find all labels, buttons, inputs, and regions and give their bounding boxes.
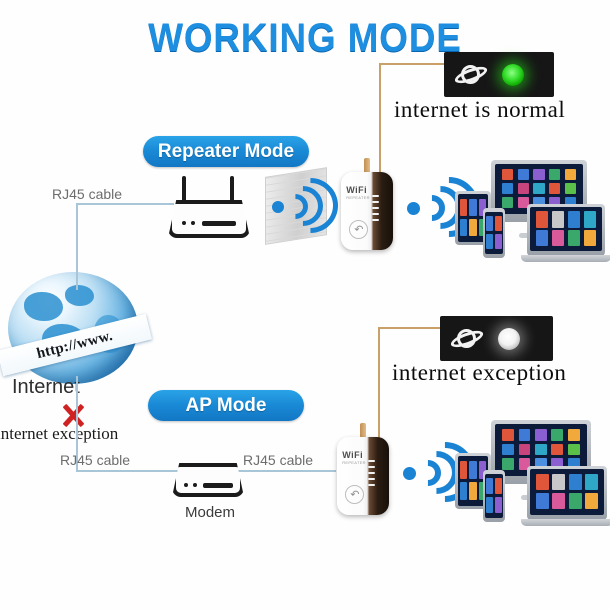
internet-globe-icon: http://www. (8, 272, 138, 384)
mode-label-ap[interactable]: AP Mode (148, 390, 304, 421)
status-wire-vertical-bottom (378, 327, 380, 445)
phone-screen (485, 212, 503, 254)
status-wire-horizontal-top (379, 63, 447, 65)
monitor-tiles (502, 169, 576, 208)
wifi-repeater-device-top[interactable]: WiFi REPEATER ↶ (341, 172, 393, 250)
multi-device-cluster-bottom (455, 420, 605, 530)
status-wire-vertical-top (379, 63, 381, 181)
wifi-repeater-device-bottom[interactable]: WiFi REPEATER ↶ (337, 437, 389, 515)
laptop-screen (530, 207, 602, 251)
lan-trunk-upper (76, 262, 78, 290)
repeater-brand-sublabel: REPEATER (342, 460, 366, 465)
internet-exception-label: internet exception (0, 424, 118, 444)
status-badge-internet-exception (440, 316, 553, 361)
repeater-brand-label: WiFi (346, 185, 367, 195)
cable-label-ap-right: RJ45 cable (243, 452, 313, 468)
repeater-brand-sublabel: REPEATER (346, 195, 370, 200)
router-icon (168, 176, 250, 238)
led-green-indicator (502, 64, 524, 86)
led-white-indicator (498, 328, 520, 350)
wifi-signal-through-wall (272, 182, 326, 232)
laptop-screen (530, 469, 604, 515)
status-caption-normal: internet is normal (394, 97, 565, 123)
planet-icon (454, 58, 488, 92)
multi-device-cluster-top (455, 160, 605, 265)
working-mode-diagram: WORKING MODE internet is normal Repeater… (0, 0, 610, 610)
repeater-led-strip (368, 460, 375, 486)
phone-screen (485, 474, 503, 518)
status-wire-horizontal-bottom (378, 327, 444, 329)
status-caption-exception: internet exception (392, 360, 566, 386)
lan-line-globe-to-router-horizontal (76, 203, 174, 205)
repeater-brand-label: WiFi (342, 450, 363, 460)
status-badge-internet-normal (444, 52, 554, 97)
wps-button-icon[interactable]: ↶ (345, 485, 364, 504)
wifi-signal-repeater-bottom (403, 447, 459, 499)
planet-icon (450, 322, 484, 356)
cable-label-ap-left: RJ45 cable (60, 452, 130, 468)
cable-label-repeater: RJ45 cable (52, 186, 122, 202)
wps-button-icon[interactable]: ↶ (349, 220, 368, 239)
mode-label-repeater[interactable]: Repeater Mode (143, 136, 309, 167)
internet-label: Internet (12, 376, 80, 399)
modem-icon (172, 463, 244, 497)
modem-label: Modem (185, 504, 235, 521)
repeater-led-strip (372, 195, 379, 221)
